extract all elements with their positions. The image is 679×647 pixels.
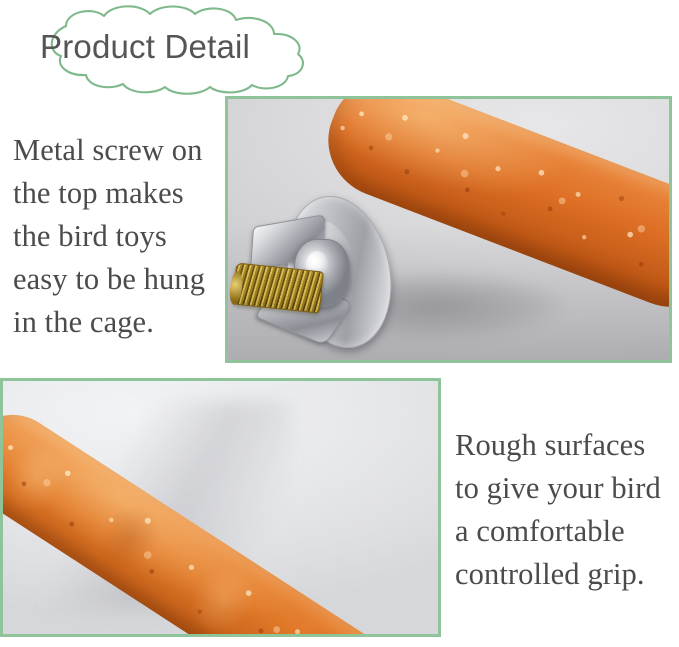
brass-bolt: [232, 263, 324, 314]
feature-text-line: Metal screw on: [13, 129, 228, 172]
product-detail-page: Product Detail Metal screw on the top ma…: [0, 0, 679, 647]
photo-scene: [228, 99, 669, 360]
feature-text-line: the top makes: [13, 172, 228, 215]
feature-text-line: to give your bird: [455, 467, 677, 510]
feature-text-line: in the cage.: [13, 301, 228, 344]
feature-text-metal-screw: Metal screw on the top makes the bird to…: [13, 129, 228, 344]
feature-text-line: easy to be hung: [13, 258, 228, 301]
feature-text-line: the bird toys: [13, 215, 228, 258]
bolt-threads: [233, 264, 323, 313]
page-title: Product Detail: [40, 28, 310, 66]
feature-text-line: a comfortable: [455, 510, 677, 553]
product-photo-surface: [0, 378, 441, 637]
feature-text-rough-surface: Rough surfaces to give your bird a comfo…: [455, 424, 677, 596]
feature-text-line: controlled grip.: [455, 553, 677, 596]
photo-scene: [3, 381, 438, 634]
feature-text-line: Rough surfaces: [455, 424, 677, 467]
product-photo-screw: [225, 96, 672, 363]
title-banner: Product Detail: [8, 2, 328, 98]
